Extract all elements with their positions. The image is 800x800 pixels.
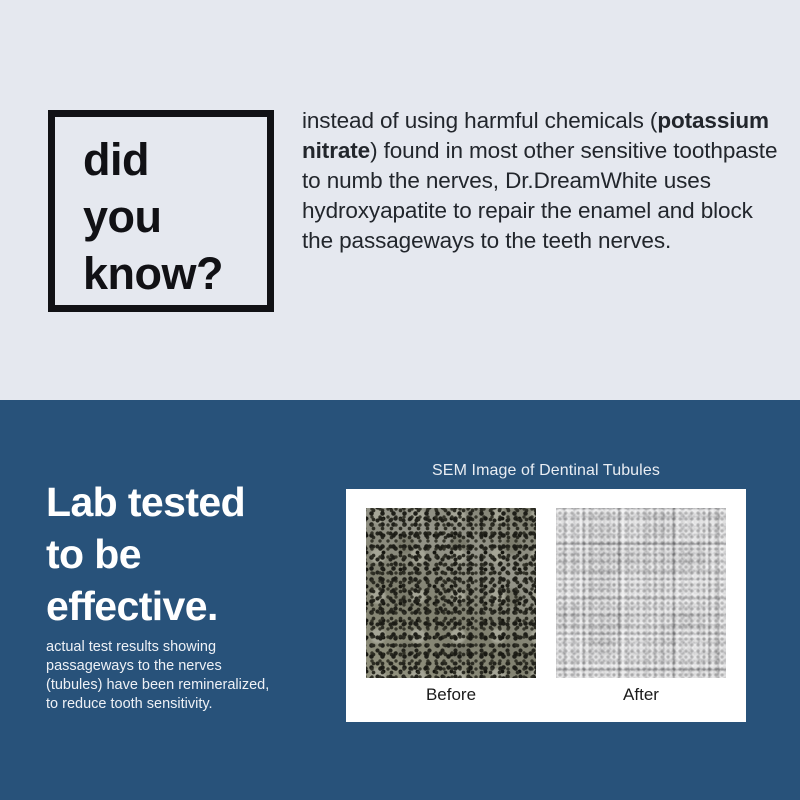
lab-tested-heading: Lab tested to be effective. <box>46 476 336 632</box>
did-you-know-section: did you know? instead of using harmful c… <box>0 0 800 400</box>
sem-comparison-card: Before After <box>346 489 746 722</box>
sem-image-title: SEM Image of Dentinal Tubules <box>346 462 746 480</box>
poster: did you know? instead of using harmful c… <box>0 0 800 800</box>
sem-label-after: After <box>556 685 726 705</box>
sem-image-after <box>556 508 726 678</box>
sem-label-row: Before After <box>366 685 726 705</box>
sem-label-before: Before <box>366 685 536 705</box>
did-you-know-label: did you know? <box>83 131 223 302</box>
did-you-know-badge: did you know? <box>48 110 274 312</box>
sem-image-before <box>366 508 536 678</box>
lab-tested-section: Lab tested to be effective. actual test … <box>0 400 800 800</box>
lab-tested-caption: actual test results showing passageways … <box>46 638 316 714</box>
fact-paragraph: instead of using harmful chemicals (pota… <box>302 106 780 256</box>
sem-image-pair <box>366 508 726 678</box>
fact-text-part-2: ) found in most other sensitive toothpas… <box>302 138 777 253</box>
fact-text-part-1: instead of using harmful chemicals ( <box>302 108 657 133</box>
